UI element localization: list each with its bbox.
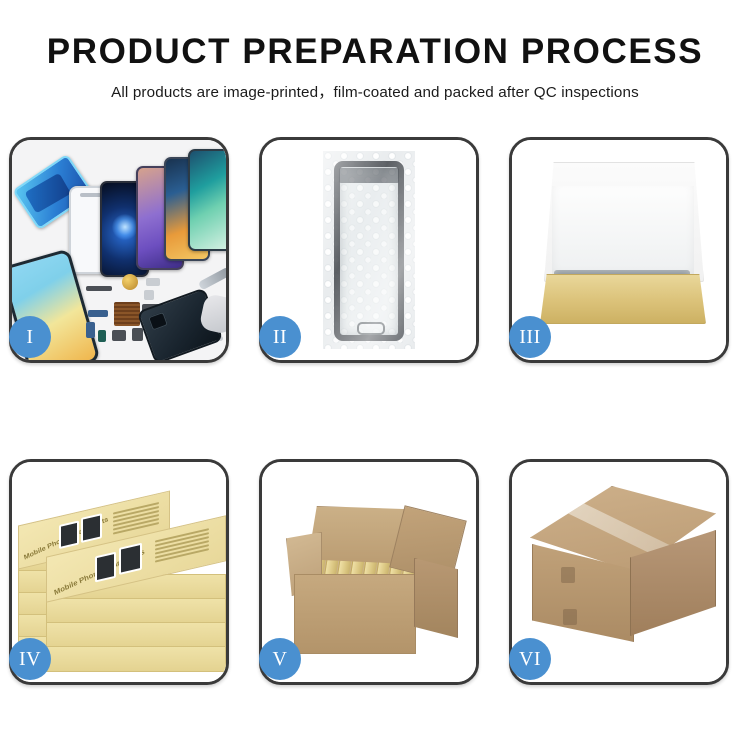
pcb-board-icon: [114, 302, 140, 326]
header: PRODUCT PREPARATION PROCESS All products…: [0, 0, 750, 102]
page-title: PRODUCT PREPARATION PROCESS: [0, 34, 750, 71]
step-panel-1[interactable]: I: [9, 137, 229, 363]
page-subtitle: All products are image-printed，film-coat…: [0, 80, 750, 102]
phone-image-chip: [81, 513, 102, 543]
phone-image-chip: [59, 520, 79, 549]
carton-front-face: [294, 574, 416, 654]
button-part-icon: [144, 290, 154, 300]
tweezers-icon: [198, 267, 226, 291]
green-phone-icon: [188, 149, 226, 251]
step-panel-6[interactable]: VI: [509, 459, 729, 685]
step-badge-5: V: [259, 638, 301, 680]
spare-parts-group: [86, 268, 226, 360]
carton-hand-hole: [561, 567, 575, 583]
step-panel-3[interactable]: III: [509, 137, 729, 363]
open-inner-box-icon: [534, 162, 710, 332]
step-badge-2: II: [259, 316, 301, 358]
stacked-box-slab: [46, 622, 226, 648]
step-badge-4: IV: [9, 638, 51, 680]
box-spec-lines: [155, 528, 209, 564]
step-badge-6: VI: [509, 638, 551, 680]
bracket-icon: [146, 278, 160, 286]
carton-hand-hole: [563, 609, 577, 625]
step-badge-1: I: [9, 316, 51, 358]
part-strip-icon: [86, 286, 112, 291]
step-panel-2[interactable]: II: [259, 137, 479, 363]
product-preparation-infographic: PRODUCT PREPARATION PROCESS All products…: [0, 0, 750, 750]
sealed-shipping-carton-icon: [530, 486, 714, 658]
phone-image-chip: [119, 543, 142, 575]
step-panel-4[interactable]: Mobile Phone Spare Parts Mobile Phone Sp…: [9, 459, 229, 685]
step-badge-3: III: [509, 316, 551, 358]
carton-side-face: [414, 558, 458, 638]
camera-module-icon: [112, 330, 126, 341]
foam-padding: [552, 186, 694, 278]
connector-icon: [86, 322, 95, 338]
bubble-wrapped-screen-icon: [323, 151, 415, 349]
process-step-grid: I II: [9, 137, 741, 685]
battery-part-icon: [98, 330, 106, 342]
gold-coil-icon: [122, 274, 138, 290]
speaker-part-icon: [132, 328, 143, 341]
stacked-box-slab: [46, 646, 226, 672]
box-tray: [540, 274, 706, 324]
phone-image-chip: [95, 552, 116, 583]
plastic-sheen: [323, 151, 415, 349]
flex-cable-icon: [88, 310, 108, 317]
step-panel-5[interactable]: V: [259, 459, 479, 685]
open-shipping-carton-icon: [286, 492, 458, 658]
retail-box-stack-icon: Mobile Phone Spare Parts Mobile Phone Sp…: [18, 478, 224, 678]
stacked-box-slab: [46, 598, 226, 624]
